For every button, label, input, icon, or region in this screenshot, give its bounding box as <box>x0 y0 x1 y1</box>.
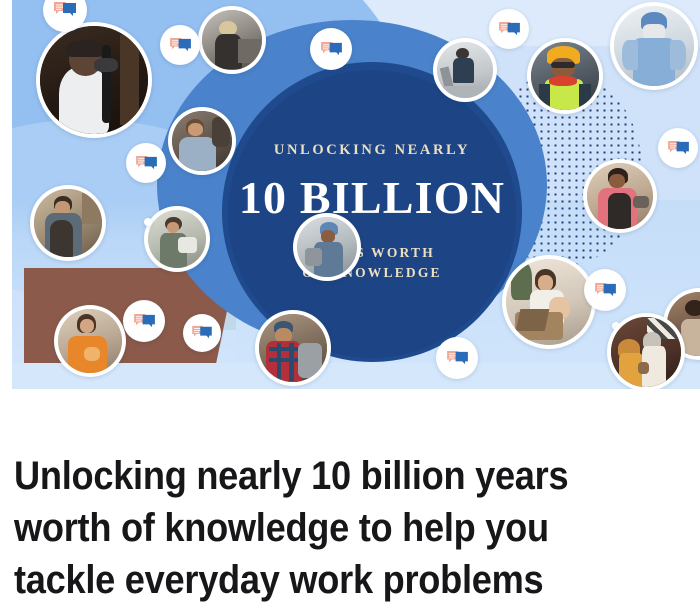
photo-bubble-man-in-workshop-apron <box>30 185 106 261</box>
chat-icon-upper-mid <box>310 28 352 70</box>
photo-woman-orange-top-cafe <box>58 309 122 373</box>
chat-bubbles-icon <box>320 41 343 58</box>
hero-big-number: 10 BILLION <box>239 175 505 221</box>
photo-bubble-man-in-plaid-shirt-workshop <box>255 310 331 386</box>
hero-banner: UNLOCKING NEARLY 10 BILLION YEARS WORTH … <box>12 0 700 389</box>
photo-bubble-woman-with-device <box>144 206 210 272</box>
photo-two-women-at-counter <box>611 317 681 387</box>
photo-bubble-man-writing-notes <box>168 107 236 175</box>
chat-icon-upper-left <box>160 25 200 65</box>
photo-bubble-two-women-at-counter <box>607 313 685 389</box>
chat-bubbles-icon <box>498 21 521 38</box>
chat-bubbles-icon <box>446 350 469 367</box>
article-headline-line-1: Unlocking nearly 10 billion years <box>14 454 568 498</box>
photo-bubble-woman-with-baby-laptop <box>502 255 596 349</box>
photo-bubble-woman-cleaning-floor <box>433 38 497 102</box>
chat-icon-lower-left <box>123 300 165 342</box>
photo-bubble-barista-in-pink-apron <box>583 159 657 233</box>
chat-icon-mid-right <box>658 128 698 168</box>
chat-bubbles-icon <box>135 155 158 172</box>
photo-bubble-woman-orange-top-cafe <box>54 305 126 377</box>
photo-nurse-in-scrubs-mask <box>614 6 694 86</box>
chat-bubbles-icon <box>53 1 77 19</box>
photo-barista-in-pink-apron <box>587 163 653 229</box>
photo-woman-with-baby-laptop <box>506 259 592 345</box>
photo-bubble-nurse-in-scrubs-mask <box>610 2 698 90</box>
chat-icon-mid-left <box>126 143 166 183</box>
chat-icon-lower-mid <box>183 314 221 352</box>
photo-man-in-plaid-shirt-workshop <box>259 314 327 382</box>
photo-man-in-workshop-apron <box>34 189 102 257</box>
photo-woman-at-workbench <box>202 10 262 70</box>
photo-bubble-spacer <box>144 218 152 226</box>
chat-bubbles-icon <box>191 325 213 341</box>
article-headline-line-3: tackle everyday work problems <box>14 558 543 602</box>
photo-man-writing-notes <box>172 111 232 171</box>
photo-woman-in-hairnet-working <box>297 217 357 277</box>
photo-woman-with-device <box>148 210 206 268</box>
chat-bubbles-icon <box>667 140 690 157</box>
chat-icon-upper-right <box>489 9 529 49</box>
photo-bubble-construction-worker-hardhat <box>527 38 603 114</box>
chat-bubbles-icon <box>169 37 192 54</box>
chat-bubbles-icon <box>594 282 617 299</box>
article-headline: Unlocking nearly 10 billion years worth … <box>14 450 622 606</box>
photo-man-with-microphone-headphones <box>40 26 148 134</box>
photo-bubble-woman-at-workbench <box>198 6 266 74</box>
photo-woman-cleaning-floor <box>437 42 493 98</box>
chat-icon-far-right <box>584 269 626 311</box>
page-root: UNLOCKING NEARLY 10 BILLION YEARS WORTH … <box>0 0 700 605</box>
hero-kicker: UNLOCKING NEARLY <box>274 142 470 159</box>
photo-bubble-man-with-microphone-headphones <box>36 22 152 138</box>
photo-bubble-woman-in-hairnet-working <box>293 213 361 281</box>
photo-construction-worker-hardhat <box>531 42 599 110</box>
article-headline-line-2: worth of knowledge to help you <box>14 506 549 550</box>
chat-icon-lower-right <box>436 337 478 379</box>
chat-bubbles-icon <box>133 313 156 330</box>
